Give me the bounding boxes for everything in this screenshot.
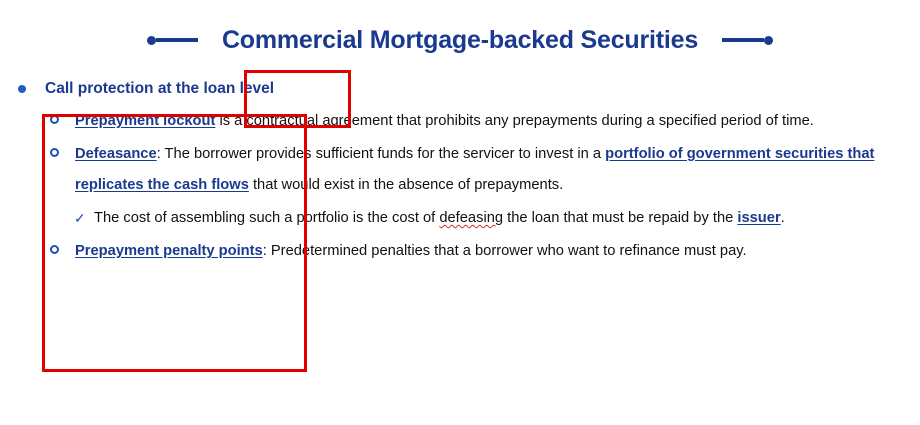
slide-title-row: Commercial Mortgage-backed Securities [0,20,920,60]
decoration-line-right-icon [722,38,764,42]
body-cost-part1: The cost of assembling such a portfolio … [94,210,439,226]
keyword-defeasance: Defeasance [75,146,157,162]
keyword-issuer: issuer [737,210,780,226]
body-cost-part3: . [781,210,785,226]
title-right-decoration-icon [722,36,773,45]
decoration-dot-right-icon [764,36,773,45]
hollow-circle-bullet-icon [50,148,59,157]
keyword-prepayment-penalty-points: Prepayment penalty points [75,243,263,259]
bullet-subitem-cost-of-assembling: ✓ The cost of assembling such a portfoli… [0,203,920,234]
bullet-item-defeasance: Defeasance: The borrower provides suffic… [0,139,920,201]
misspelled-word-defeasing: defeasing [439,210,503,226]
slide-body: Call protection at the loan level Prepay… [0,78,920,269]
body-defeasance-part2: that would exist in the absence of prepa… [249,177,563,193]
body-cost-part2: the loan that must be repaid by the [503,210,737,226]
page-title: Commercial Mortgage-backed Securities [198,28,722,53]
checkmark-bullet-icon: ✓ [74,203,86,234]
bullet-item-prepayment-lockout: Prepayment lockout is a contractual agre… [0,106,920,137]
decoration-dot-left-icon [147,36,156,45]
hollow-circle-bullet-icon [50,245,59,254]
body-defeasance-part1: : The borrower provides sufficient funds… [157,146,605,162]
decoration-line-left-icon [156,38,198,42]
bullet-level1-call-protection: Call protection at the loan level [0,78,920,100]
bullet-item-prepayment-penalty-points: Prepayment penalty points: Predetermined… [0,236,920,267]
filled-circle-bullet-icon [18,85,26,93]
slide-canvas: Commercial Mortgage-backed Securities Ca… [0,0,920,425]
title-left-decoration-icon [147,36,198,45]
body-prepayment-penalty-points: : Predetermined penalties that a borrowe… [263,243,747,259]
hollow-circle-bullet-icon [50,115,59,124]
bullet-level1-label: Call protection at the loan level [45,80,274,97]
keyword-prepayment-lockout: Prepayment lockout [75,113,215,129]
body-prepayment-lockout: is a contractual agreement that prohibit… [215,113,813,129]
